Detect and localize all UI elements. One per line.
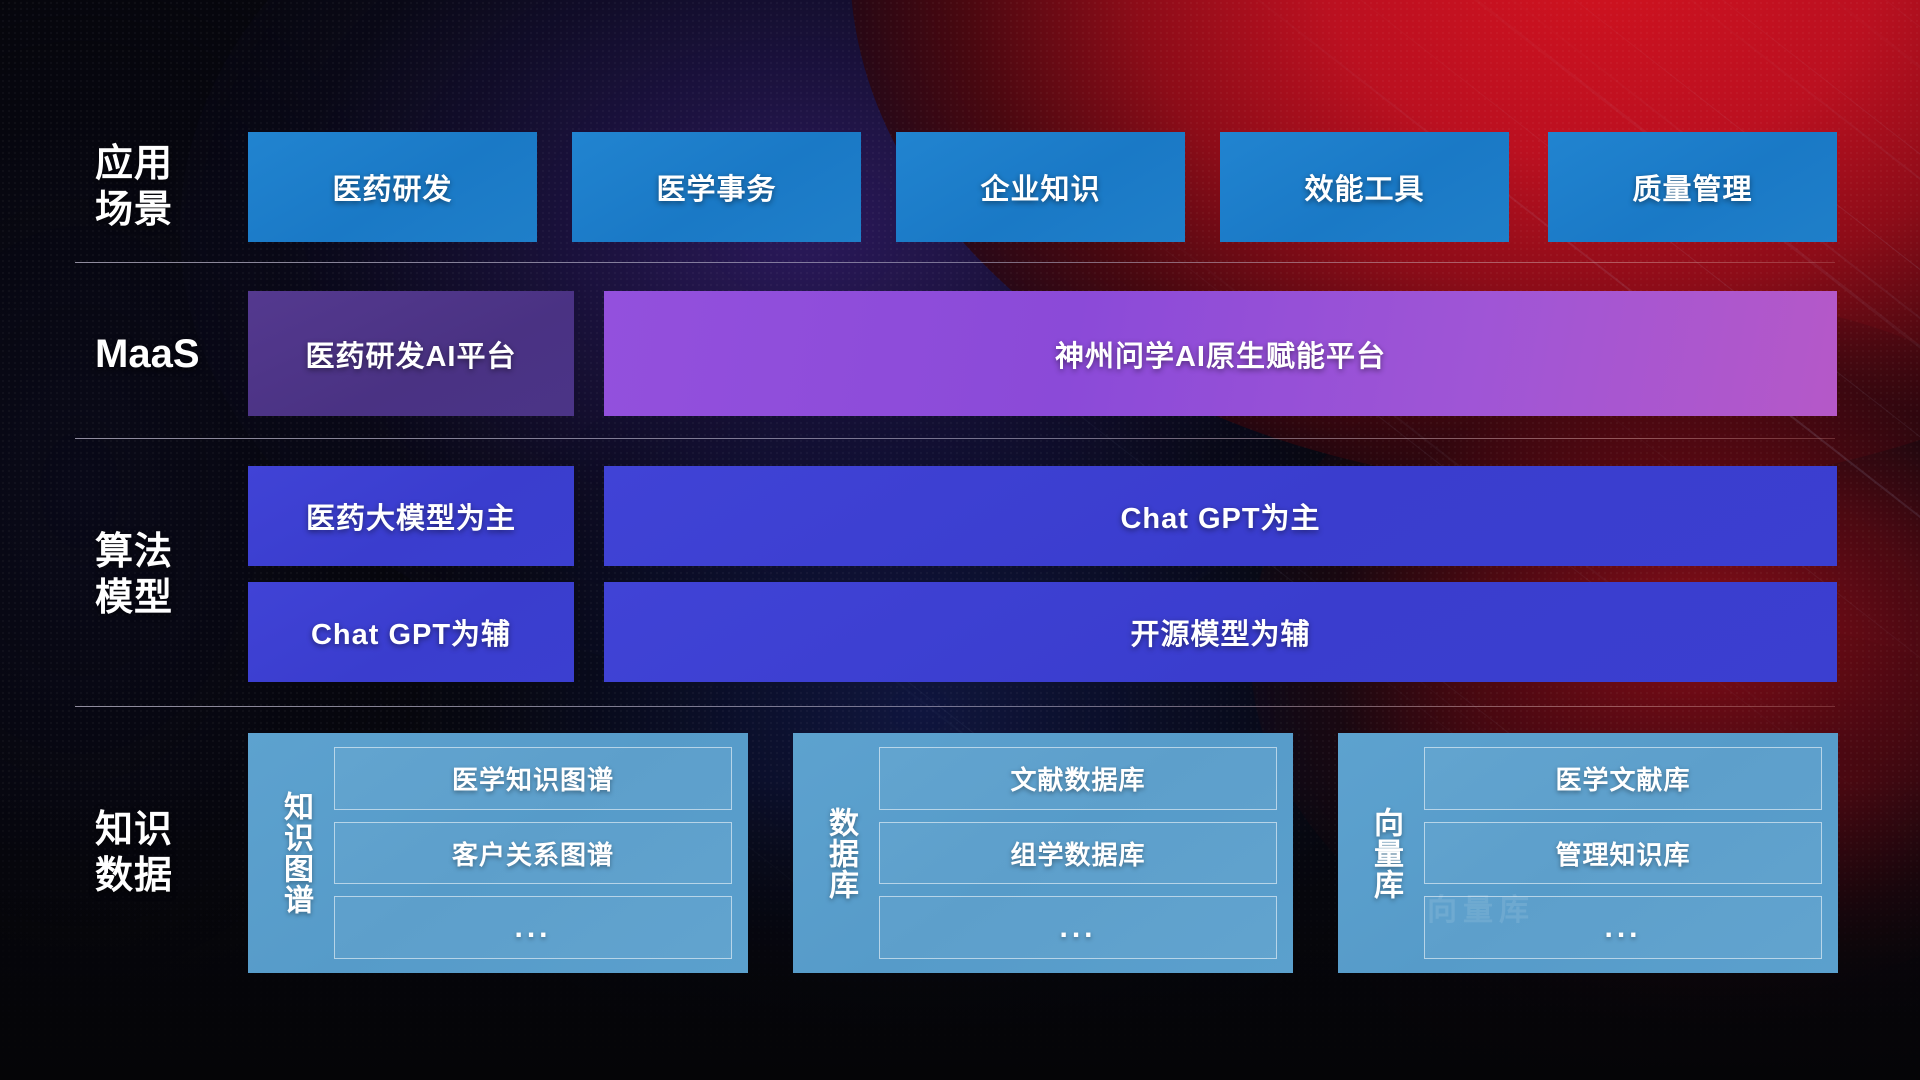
row-label-algorithm: 算法 模型 bbox=[95, 466, 245, 684]
algorithm-card-chatgpt-secondary[interactable]: Chat GPT为辅 bbox=[248, 582, 574, 682]
divider-algorithm-knowledge bbox=[75, 706, 1835, 707]
algorithm-card-chatgpt-primary[interactable]: Chat GPT为主 bbox=[604, 466, 1837, 566]
knowledge-item-1-1[interactable]: 组学数据库 bbox=[879, 822, 1277, 885]
knowledge-item-1-2[interactable]: ... bbox=[879, 896, 1277, 959]
row-label-knowledge: 知识 数据 bbox=[95, 733, 245, 973]
knowledge-item-0-1[interactable]: 客户关系图谱 bbox=[334, 822, 732, 885]
maas-card-platform[interactable]: 医药研发AI平台 bbox=[248, 291, 574, 416]
knowledge-group-knowledge-graph[interactable]: 知识图谱 医学知识图谱 客户关系图谱 ... bbox=[248, 733, 748, 973]
knowledge-item-2-0[interactable]: 医学文献库 bbox=[1424, 747, 1822, 810]
scenario-card-2[interactable]: 企业知识 bbox=[896, 132, 1185, 242]
scenario-card-1[interactable]: 医学事务 bbox=[572, 132, 861, 242]
divider-scenario-maas bbox=[75, 262, 1835, 263]
architecture-diagram: 应用 场景 医药研发 医学事务 企业知识 效能工具 质量管理 MaaS 医药研发… bbox=[0, 0, 1920, 1080]
scenario-card-0[interactable]: 医药研发 bbox=[248, 132, 537, 242]
knowledge-group-items-2: 医学文献库 管理知识库 ... bbox=[1418, 747, 1822, 959]
knowledge-item-2-2[interactable]: ... bbox=[1424, 896, 1822, 959]
algorithm-card-med-model-primary[interactable]: 医药大模型为主 bbox=[248, 466, 574, 566]
knowledge-group-title-2: 向量库 bbox=[1352, 747, 1418, 959]
knowledge-group-title-0: 知识图谱 bbox=[262, 747, 328, 959]
row-label-scenario: 应用 场景 bbox=[95, 132, 245, 242]
scenario-card-3[interactable]: 效能工具 bbox=[1220, 132, 1509, 242]
knowledge-item-0-2[interactable]: ... bbox=[334, 896, 732, 959]
knowledge-group-items-1: 文献数据库 组学数据库 ... bbox=[873, 747, 1277, 959]
scenario-card-4[interactable]: 质量管理 bbox=[1548, 132, 1837, 242]
knowledge-group-database[interactable]: 数据库 文献数据库 组学数据库 ... bbox=[793, 733, 1293, 973]
knowledge-item-1-0[interactable]: 文献数据库 bbox=[879, 747, 1277, 810]
knowledge-group-items-0: 医学知识图谱 客户关系图谱 ... bbox=[328, 747, 732, 959]
row-label-maas: MaaS bbox=[95, 291, 245, 416]
algorithm-card-opensource-secondary[interactable]: 开源模型为辅 bbox=[604, 582, 1837, 682]
divider-maas-algorithm bbox=[75, 438, 1835, 439]
knowledge-item-2-1[interactable]: 管理知识库 bbox=[1424, 822, 1822, 885]
knowledge-group-title-1: 数据库 bbox=[807, 747, 873, 959]
maas-card-main-platform[interactable]: 神州问学AI原生赋能平台 bbox=[604, 291, 1837, 416]
knowledge-item-0-0[interactable]: 医学知识图谱 bbox=[334, 747, 732, 810]
knowledge-group-vector-store[interactable]: 向量库 医学文献库 管理知识库 ... bbox=[1338, 733, 1838, 973]
